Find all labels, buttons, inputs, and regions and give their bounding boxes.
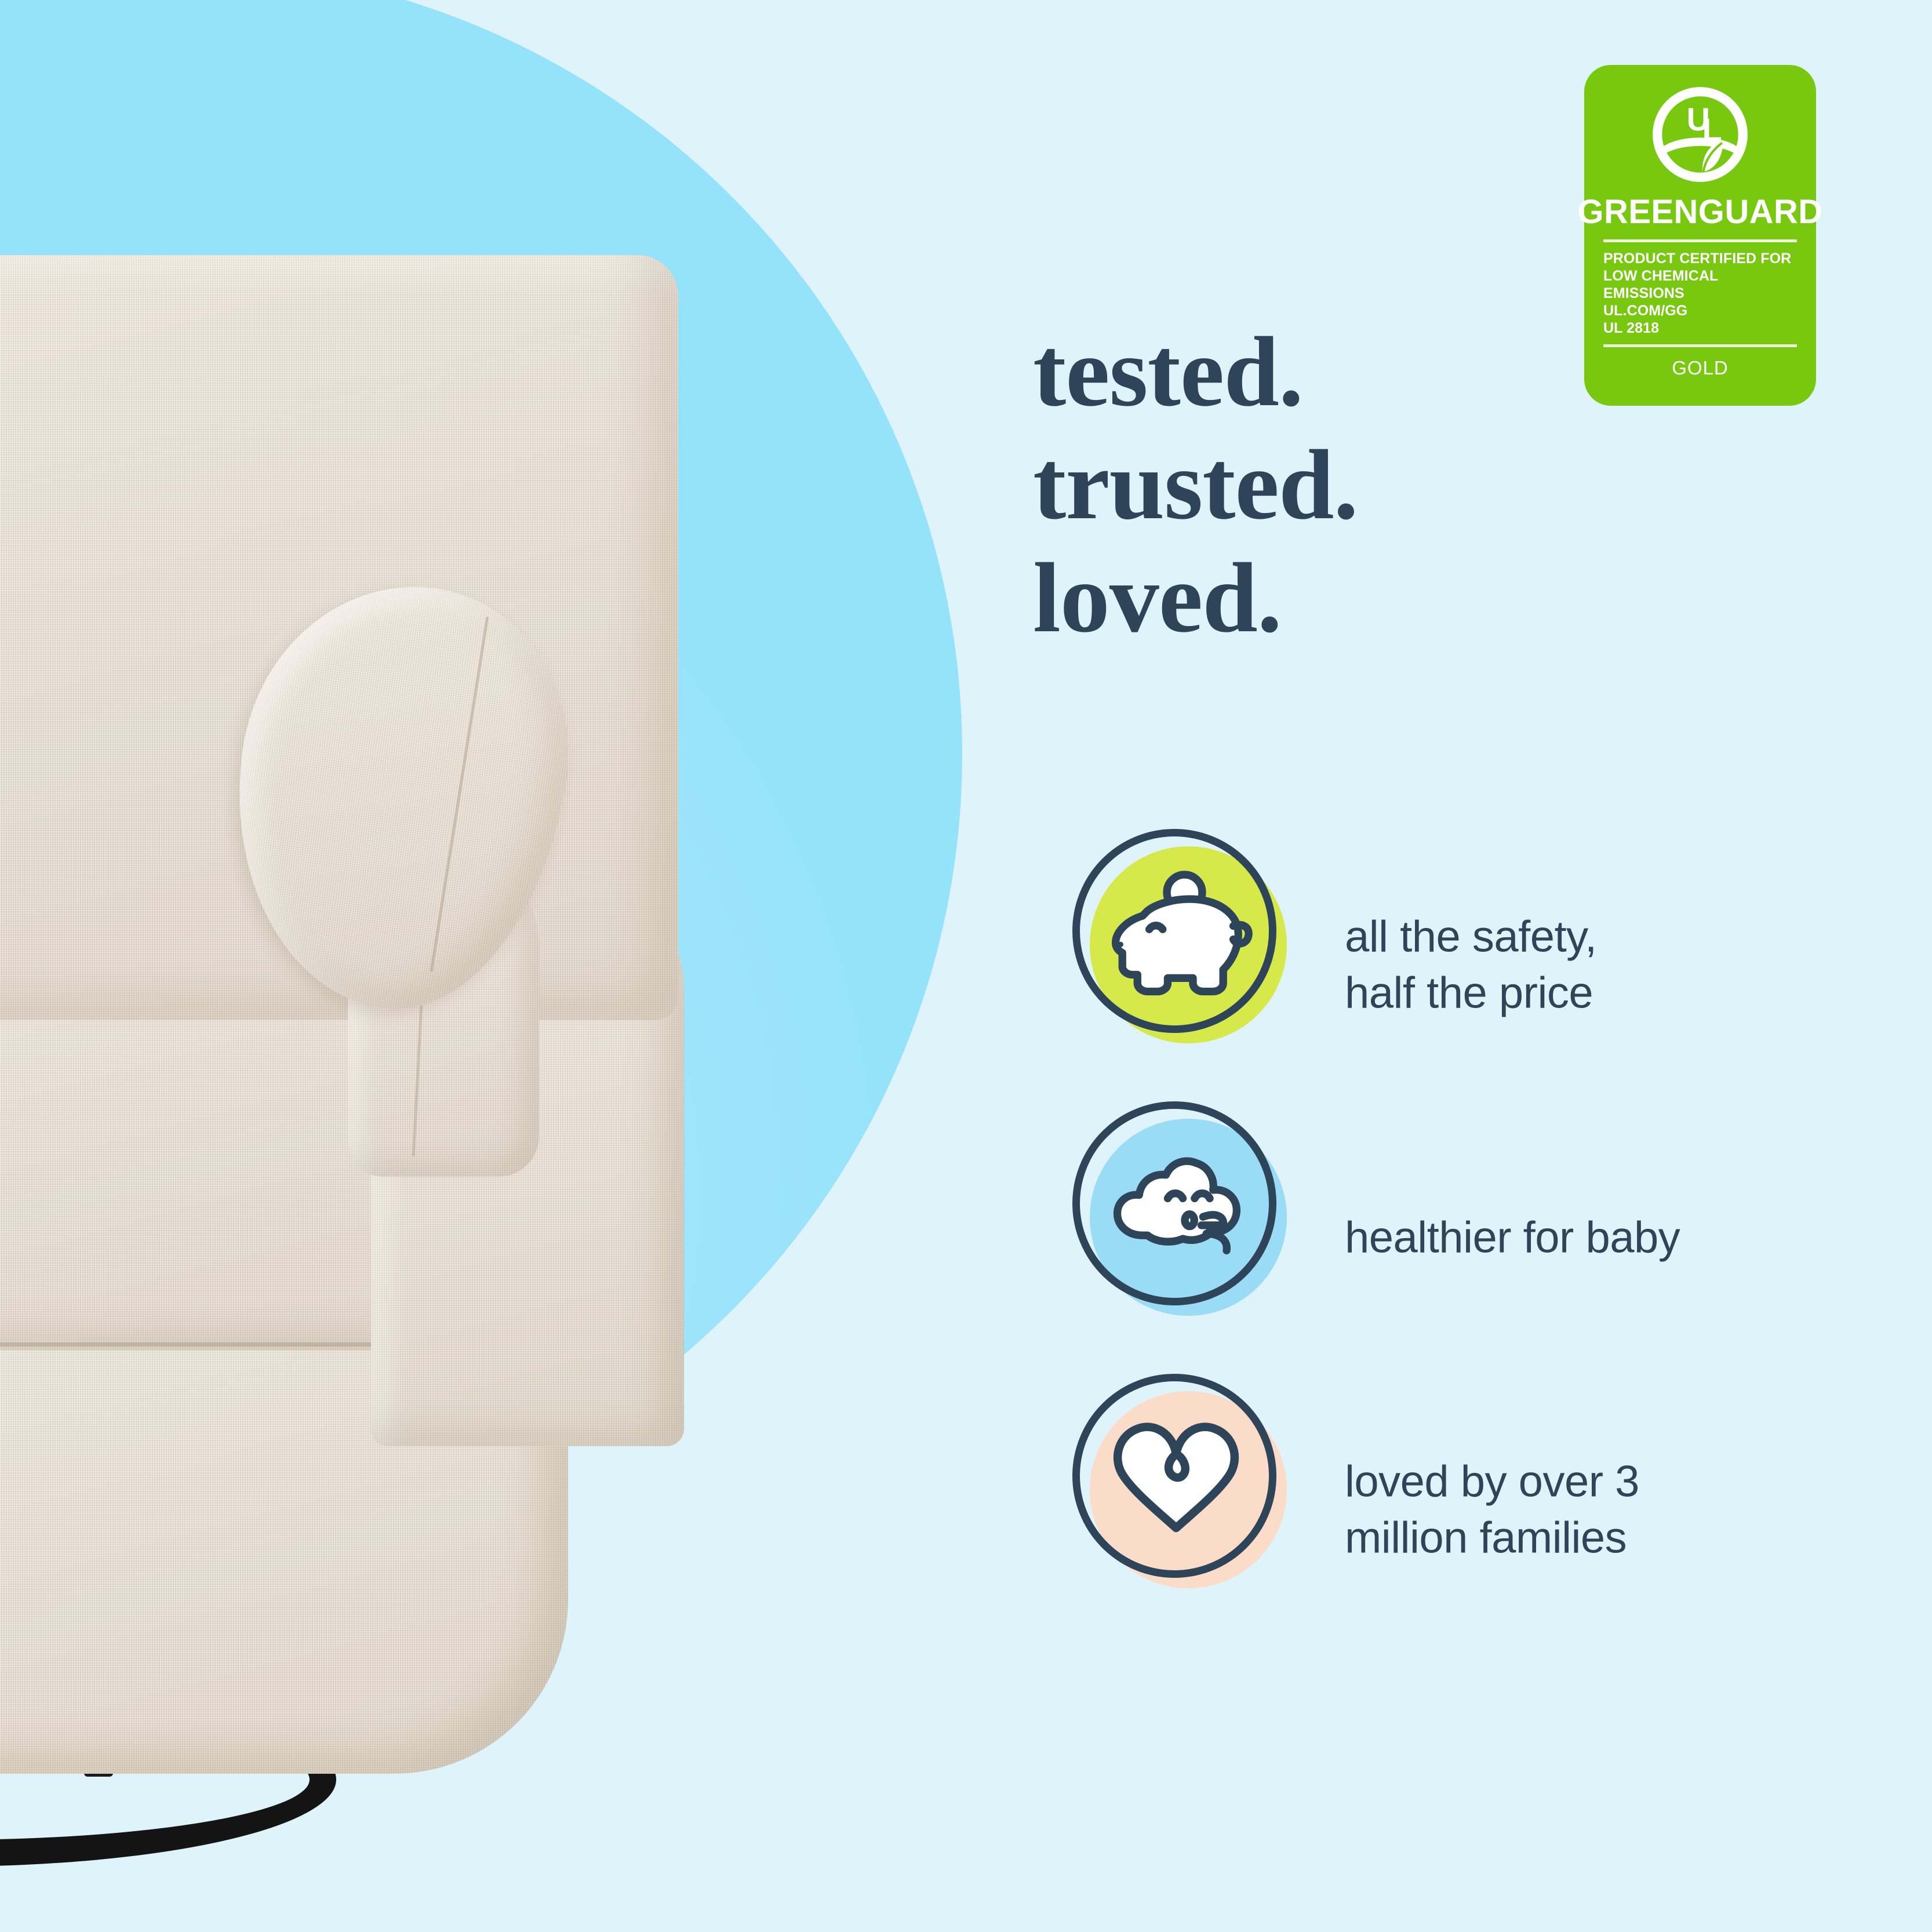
feature-label-savings: all the safety, half the price [1345,909,1597,1022]
badge-divider-top [1603,239,1797,242]
feature-label-air-quality: healthier for baby [1345,1209,1680,1265]
page-title: tested. trusted. loved. [1033,316,1844,656]
feature-item-loved: loved by over 3 million families [1072,1374,1895,1646]
headline-line-3: loved. [1033,542,1844,655]
feature-label-loved-line-2: million families [1345,1510,1639,1566]
blowing-cloud-glyph [1092,1121,1260,1289]
piggy-bank-glyph [1092,849,1260,1017]
feature-label-loved-line-1: loved by over 3 [1345,1454,1639,1510]
blowing-cloud-icon [1072,1101,1293,1322]
feature-list: all the safety, half the price [1072,829,1895,1646]
headline-line-2: trusted. [1033,429,1844,542]
product-photo-chair [0,255,904,1739]
piggy-bank-icon [1072,829,1293,1049]
badge-line-1: PRODUCT CERTIFIED FOR [1603,250,1797,267]
feature-label-air-quality-line-1: healthier for baby [1345,1209,1680,1265]
ul-leaf-icon: U L [1648,82,1752,187]
feature-label-savings-line-1: all the safety, [1345,909,1597,965]
badge-line-2: LOW CHEMICAL EMISSIONS [1603,267,1797,302]
feature-label-savings-line-2: half the price [1345,965,1597,1021]
feature-label-loved: loved by over 3 million families [1345,1454,1639,1567]
heart-icon [1072,1374,1293,1594]
feature-item-air-quality: healthier for baby [1072,1101,1895,1374]
badge-title: GREENGUARD [1578,192,1823,231]
heart-glyph [1092,1393,1260,1562]
headline-line-1: tested. [1033,316,1844,429]
feature-item-savings: all the safety, half the price [1072,829,1895,1101]
marketing-image-canvas: U L GREENGUARD PRODUCT CERTIFIED FOR LOW… [0,0,1932,1932]
